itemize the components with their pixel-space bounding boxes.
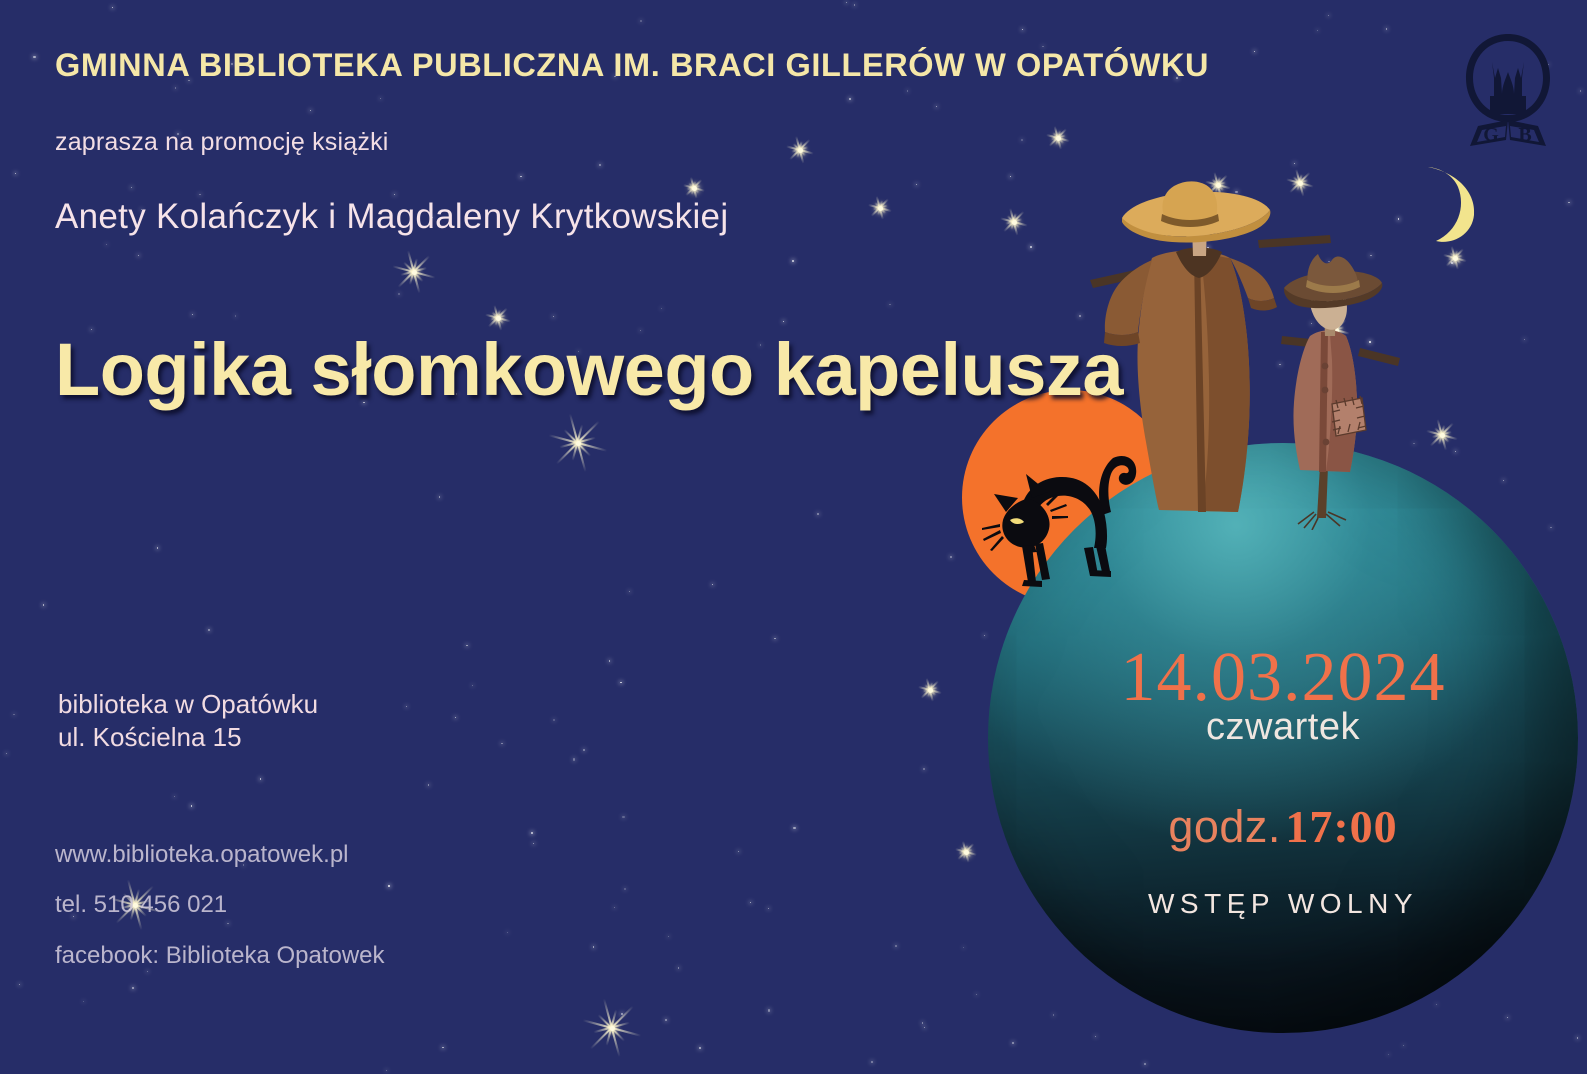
star-dot [573,758,575,760]
star-dot [849,98,851,100]
star-dot [712,584,713,585]
star-dot [768,1009,770,1011]
star-dot [668,936,669,937]
star-dot [1388,1054,1389,1055]
star-dot [629,591,630,592]
star-dot [1507,1017,1508,1018]
book-title: Logika słomkowego kapelusza [55,327,1123,412]
star-dot [792,260,794,262]
event-weekday: czwartek [988,706,1578,749]
star-dot [817,513,818,514]
star-dot [455,717,456,718]
star-dot [157,547,158,548]
venue-block: biblioteka w Opatówku ul. Kościelna 15 [58,688,318,755]
star-dot [783,321,784,322]
star-dot [1144,1063,1145,1064]
star-dot [235,315,236,316]
star-dot [640,20,641,21]
venue-line-1: biblioteka w Opatówku [58,688,318,721]
star-dot [963,947,964,948]
star-dot [738,851,739,852]
authors-line: Anety Kolańczyk i Magdaleny Krytkowskiej [55,197,728,237]
star-dot [112,7,113,8]
star-dot [1550,527,1551,528]
contact-phone: tel. 510 456 021 [55,880,385,930]
star-dot [950,556,952,558]
star-dot [428,784,429,785]
organization-title: GMINNA BIBLIOTEKA PUBLICZNA IM. BRACI GI… [55,47,1425,84]
star-dot [33,56,35,58]
star-dot [665,1019,667,1021]
star-dot [750,902,751,903]
star-dot [13,714,14,715]
star-dot [793,827,795,829]
star-dot [1436,1004,1437,1005]
star-dot [1568,202,1569,203]
star-dot [1294,163,1295,164]
star-dot [699,1047,700,1048]
logo-initial-left: G [1483,124,1499,146]
star-dot [1455,451,1456,452]
star-dot [907,90,908,91]
star-dot [398,293,399,294]
contact-block: www.biblioteka.opatowek.pl tel. 510 456 … [55,830,385,981]
star-dot [1580,90,1581,91]
star-dot [854,4,855,5]
star-dot [1451,262,1453,264]
star-dot [553,719,555,721]
star-dot [622,816,624,818]
admission-note: WSTĘP WOLNY [988,888,1578,920]
logo-initial-right: B [1518,124,1531,146]
star-dot [774,638,775,639]
scarecrow-large-illustration [1090,181,1331,512]
library-church-book-logo: G B [1460,28,1556,148]
star-dot [661,308,662,309]
star-dot [984,635,985,636]
star-dot [466,645,467,646]
star-dot [15,173,16,174]
star-dot [1012,1042,1014,1044]
star-dot [192,314,193,315]
star-dot [1095,1036,1096,1037]
event-time-value: 17:00 [1285,801,1397,852]
star-dot [895,945,897,947]
star-dot [1328,15,1329,16]
star-dot [924,1027,925,1028]
star-dot [553,316,554,317]
star-dot [208,629,210,631]
star-dot [1317,30,1318,31]
star-dot [106,244,107,245]
star-dot [533,843,534,844]
event-time-row: godz. 17:00 [988,800,1578,853]
star-dot [442,1047,443,1048]
invitation-line: zaprasza na promocję książki [55,128,389,157]
star-dot [871,1061,873,1063]
star-dot [1010,176,1011,177]
star-dot [609,660,610,661]
star-dot [138,255,139,256]
star-dot [1503,480,1504,481]
star-dot [1577,1037,1578,1038]
star-dot [394,194,395,195]
star-dot [889,304,890,305]
star-dot [1403,1045,1404,1046]
star-dot [260,778,261,779]
scarecrow-small-illustration [1281,254,1400,530]
star-dot [310,110,311,111]
star-dot [132,987,134,989]
star-dot [593,946,594,947]
star-dot [923,768,925,770]
star-dot [1524,339,1525,340]
star-dot [507,932,508,933]
star-dot [846,2,847,3]
star-dot [1021,139,1023,141]
event-time-label: godz. [1168,801,1281,852]
star-dot [1053,1014,1054,1015]
star-dot [1386,28,1387,29]
star-dot [6,753,7,754]
star-dot [976,994,977,995]
star-dot [380,98,381,99]
venue-line-2: ul. Kościelna 15 [58,721,318,754]
contact-facebook[interactable]: facebook: Biblioteka Opatowek [55,931,385,981]
star-dot [520,176,521,177]
star-dot [472,685,473,686]
star-dot [191,805,192,806]
star-dot [678,967,679,968]
star-dot [174,796,175,797]
star-dot [1022,29,1023,30]
star-dot [599,164,601,166]
star-dot [614,907,615,908]
star-dot [43,604,44,605]
star-dot [83,1001,84,1002]
star-dot [531,832,533,834]
star-dot [936,106,937,107]
star-dot [131,187,132,188]
star-dot [916,184,917,185]
star-dot [1030,246,1031,247]
star-dot [386,1070,387,1071]
star-dot [175,87,176,88]
star-dot [583,749,584,750]
star-dot [922,1022,923,1023]
star-dot [388,885,389,886]
star-dot [624,888,626,890]
contact-website[interactable]: www.biblioteka.opatowek.pl [55,830,385,880]
star-dot [19,984,20,985]
star-dot [199,194,200,195]
star-dot [406,706,407,707]
star-dot [501,743,502,744]
star-dot [620,682,621,683]
poster-canvas: G B GMINNA BIBLIOTEKA PUBLICZNA IM. BRAC… [0,0,1587,1074]
star-dot [439,496,440,497]
star-dot [768,908,769,909]
